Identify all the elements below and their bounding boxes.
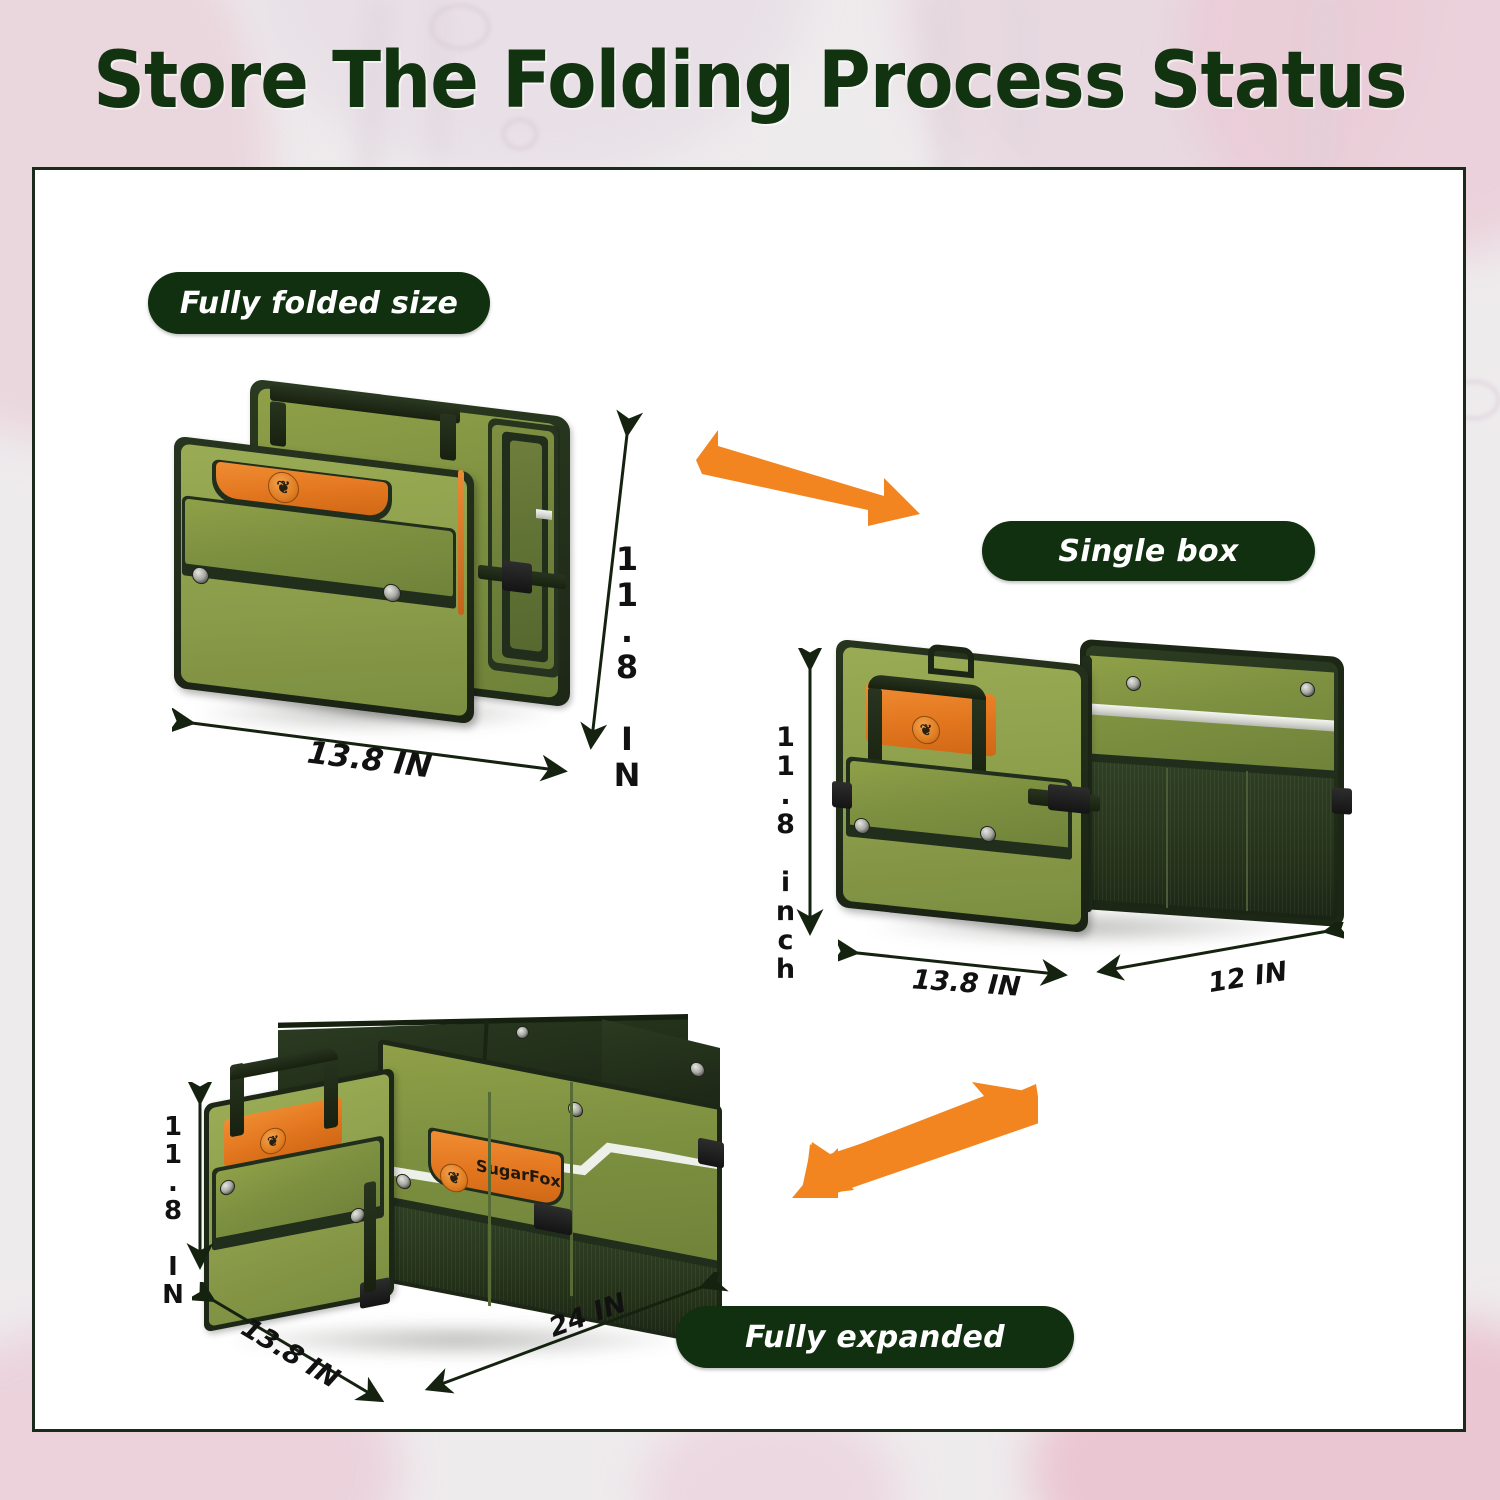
stage-label-fully-expanded: Fully expanded [676, 1306, 1074, 1368]
hanging-loop [928, 644, 974, 679]
grommet-icon [1126, 675, 1141, 691]
dimension-label-height-expanded: 11.8 IN [158, 1112, 188, 1308]
product-image-single-box: ❦ [832, 640, 1352, 940]
grommet-icon [1300, 681, 1315, 697]
stage-label-text: Single box [1058, 534, 1238, 569]
page-title: Store The Folding Process Status [60, 38, 1440, 124]
arrow-folded-to-single [688, 418, 928, 530]
stage-label-text: Fully expanded [745, 1320, 1005, 1355]
product-image-fully-folded: ❦ [170, 392, 590, 737]
mesh-pocket [1090, 759, 1334, 916]
dimension-label-height-folded: 11.8 IN [608, 540, 646, 792]
buckle [1332, 787, 1352, 814]
dimension-label-height-single: 11.8 inch [770, 722, 801, 983]
zipper [458, 470, 464, 616]
buckle [698, 1137, 724, 1168]
stage-label-fully-folded: Fully folded size [148, 272, 490, 334]
stage-label-text: Fully folded size [180, 286, 458, 321]
buckle [1048, 784, 1090, 814]
buckle [502, 560, 532, 594]
stage-label-single-box: Single box [982, 521, 1315, 581]
grommet-icon [516, 1026, 529, 1039]
arrow-single-to-expanded-body [786, 1082, 1038, 1198]
